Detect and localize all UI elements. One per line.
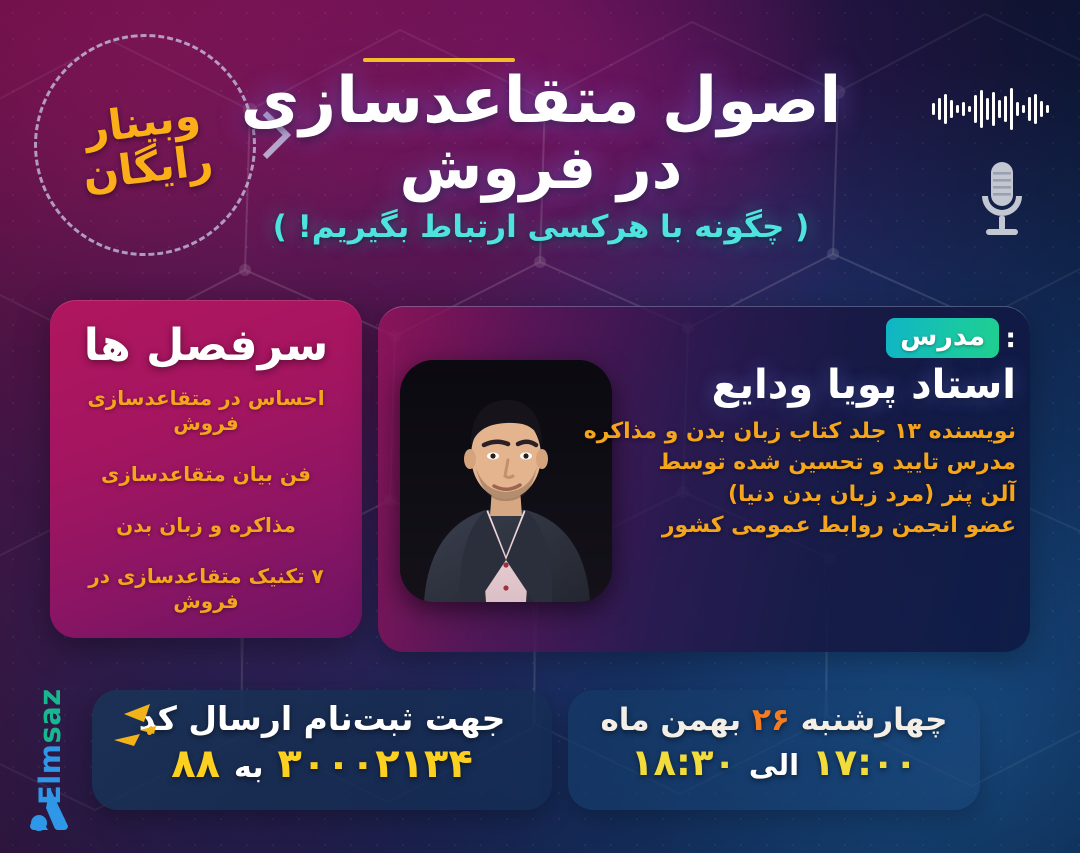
schedule-time-start: ۱۷:۰۰ (812, 741, 917, 784)
schedule-date: چهارشنبه ۲۶ بهمن ماه (568, 702, 980, 739)
free-webinar-badge: وبینار رایگان (21, 21, 268, 268)
elmsaz-mark-icon (28, 786, 74, 832)
schedule-weekday: چهارشنبه (801, 702, 948, 738)
sparkle-icon (110, 700, 166, 754)
topics-heading: سرفصل ها (66, 322, 346, 370)
title-block: اصول متقاعدسازی در فروش ( چگونه با هرکسی… (234, 68, 848, 246)
instructor-colon: : (1005, 323, 1016, 354)
brand-logo[interactable]: Elmsaz (18, 686, 80, 836)
topic-item: مذاکره و زبان بدن (66, 513, 346, 538)
topic-item: احساس در متقاعدسازی فروش (66, 386, 346, 436)
page-title-line-1: اصول متقاعدسازی (234, 68, 848, 136)
schedule-day: ۲۶ (752, 702, 790, 738)
schedule-month: بهمن ماه (600, 702, 741, 738)
instructor-bio-line: مدرس تایید و تحسین شده توسط (612, 447, 1016, 478)
registration-preposition: به (234, 750, 263, 785)
instructor-name: استاد پویا ودایع (612, 362, 1016, 408)
schedule-time: ۱۷:۰۰ الی ۱۸:۳۰ (568, 741, 980, 785)
topic-item: فن بیان متقاعدسازی (66, 462, 346, 487)
topics-card: سرفصل ها احساس در متقاعدسازی فروش فن بیا… (50, 300, 362, 638)
schedule-time-separator: الی (749, 748, 799, 782)
topic-item: ۷ تکنیک متقاعدسازی در فروش (66, 564, 346, 614)
brand-name-part-2: saz (33, 688, 67, 743)
title-divider-rule (363, 58, 515, 62)
instructor-details: : مدرس استاد پویا ودایع نویسنده ۱۳ جلد ک… (608, 318, 1016, 541)
registration-sms-number: ۳۰۰۰۲۱۳۴ (277, 741, 472, 787)
waveform-icon (930, 86, 1052, 132)
page-subtitle: ( چگونه با هرکسی ارتباط بگیریم! ) (234, 209, 848, 246)
instructor-bio-line: عضو انجمن روابط عمومی کشور (612, 510, 1016, 541)
instructor-bio-line: آلن پنر (مرد زبان بدن دنیا) (612, 479, 1016, 510)
instructor-bio: نویسنده ۱۳ جلد کتاب زبان بدن و مذاکره مد… (612, 416, 1016, 541)
instructor-bio-line: نویسنده ۱۳ جلد کتاب زبان بدن و مذاکره (612, 416, 1016, 447)
schedule-time-end: ۱۸:۳۰ (631, 741, 736, 784)
microphone-icon (972, 160, 1032, 238)
page-title-line-2: در فروش (234, 136, 848, 201)
schedule-card: چهارشنبه ۲۶ بهمن ماه ۱۷:۰۰ الی ۱۸:۳۰ (568, 690, 980, 810)
instructor-portrait (400, 360, 612, 602)
instructor-badge: مدرس (886, 318, 999, 358)
webinar-poster: وبینار رایگان اصول متقاعدسازی در فروش ( … (0, 0, 1080, 853)
registration-code: ۸۸ (171, 741, 220, 787)
instructor-label-row: : مدرس (612, 318, 1016, 358)
